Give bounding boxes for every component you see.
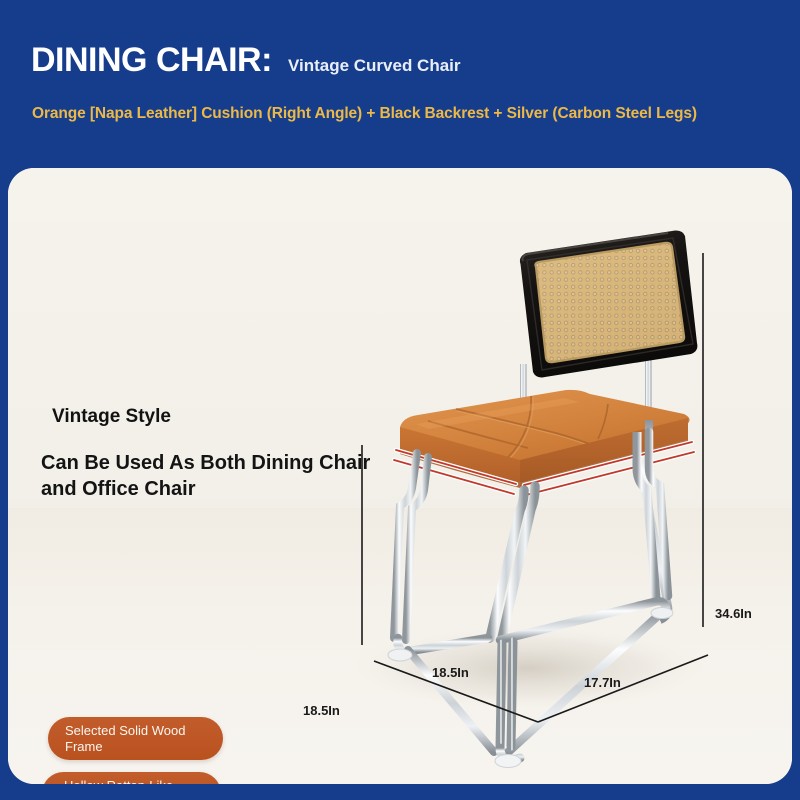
feature-pill-line-1: Selected Solid Wood — [65, 723, 185, 739]
title-row: DINING CHAIR: Vintage Curved Chair — [31, 43, 461, 77]
page-subtitle: Vintage Curved Chair — [288, 57, 461, 74]
infographic-root: DINING CHAIR: Vintage Curved Chair Orang… — [0, 0, 800, 800]
feature-pill-line-2: Frame — [65, 739, 185, 755]
dimension-label-seat-width-front: 18.5In — [432, 665, 469, 680]
usage-text: Can Be Used As Both Dining Chair and Off… — [41, 451, 401, 502]
dimension-label-seat-height: 18.5In — [303, 703, 340, 718]
dimension-label-seat-width-right: 17.7In — [584, 675, 621, 690]
usage-line-1: Can Be Used As Both Dining Chair — [41, 451, 401, 477]
page-title: DINING CHAIR: — [31, 43, 272, 77]
feature-pill-solid-wood-frame[interactable]: Selected Solid Wood Frame — [48, 717, 223, 760]
card-inner: Vintage Style Can Be Used As Both Dining… — [8, 168, 792, 784]
product-spec-line: Orange [Napa Leather] Cushion (Right Ang… — [32, 105, 697, 123]
dimension-label-total-height: 34.6In — [715, 606, 752, 621]
section-heading: Vintage Style — [52, 406, 171, 428]
content-card: Vintage Style Can Be Used As Both Dining… — [8, 168, 792, 784]
feature-pill-line-1: Hollow Rattan-Like — [64, 778, 173, 784]
usage-line-2: and Office Chair — [41, 477, 401, 503]
feature-pill-rattan-backrest[interactable]: Hollow Rattan-Like Backrest — [42, 772, 221, 784]
header-banner: DINING CHAIR: Vintage Curved Chair Orang… — [0, 0, 800, 168]
